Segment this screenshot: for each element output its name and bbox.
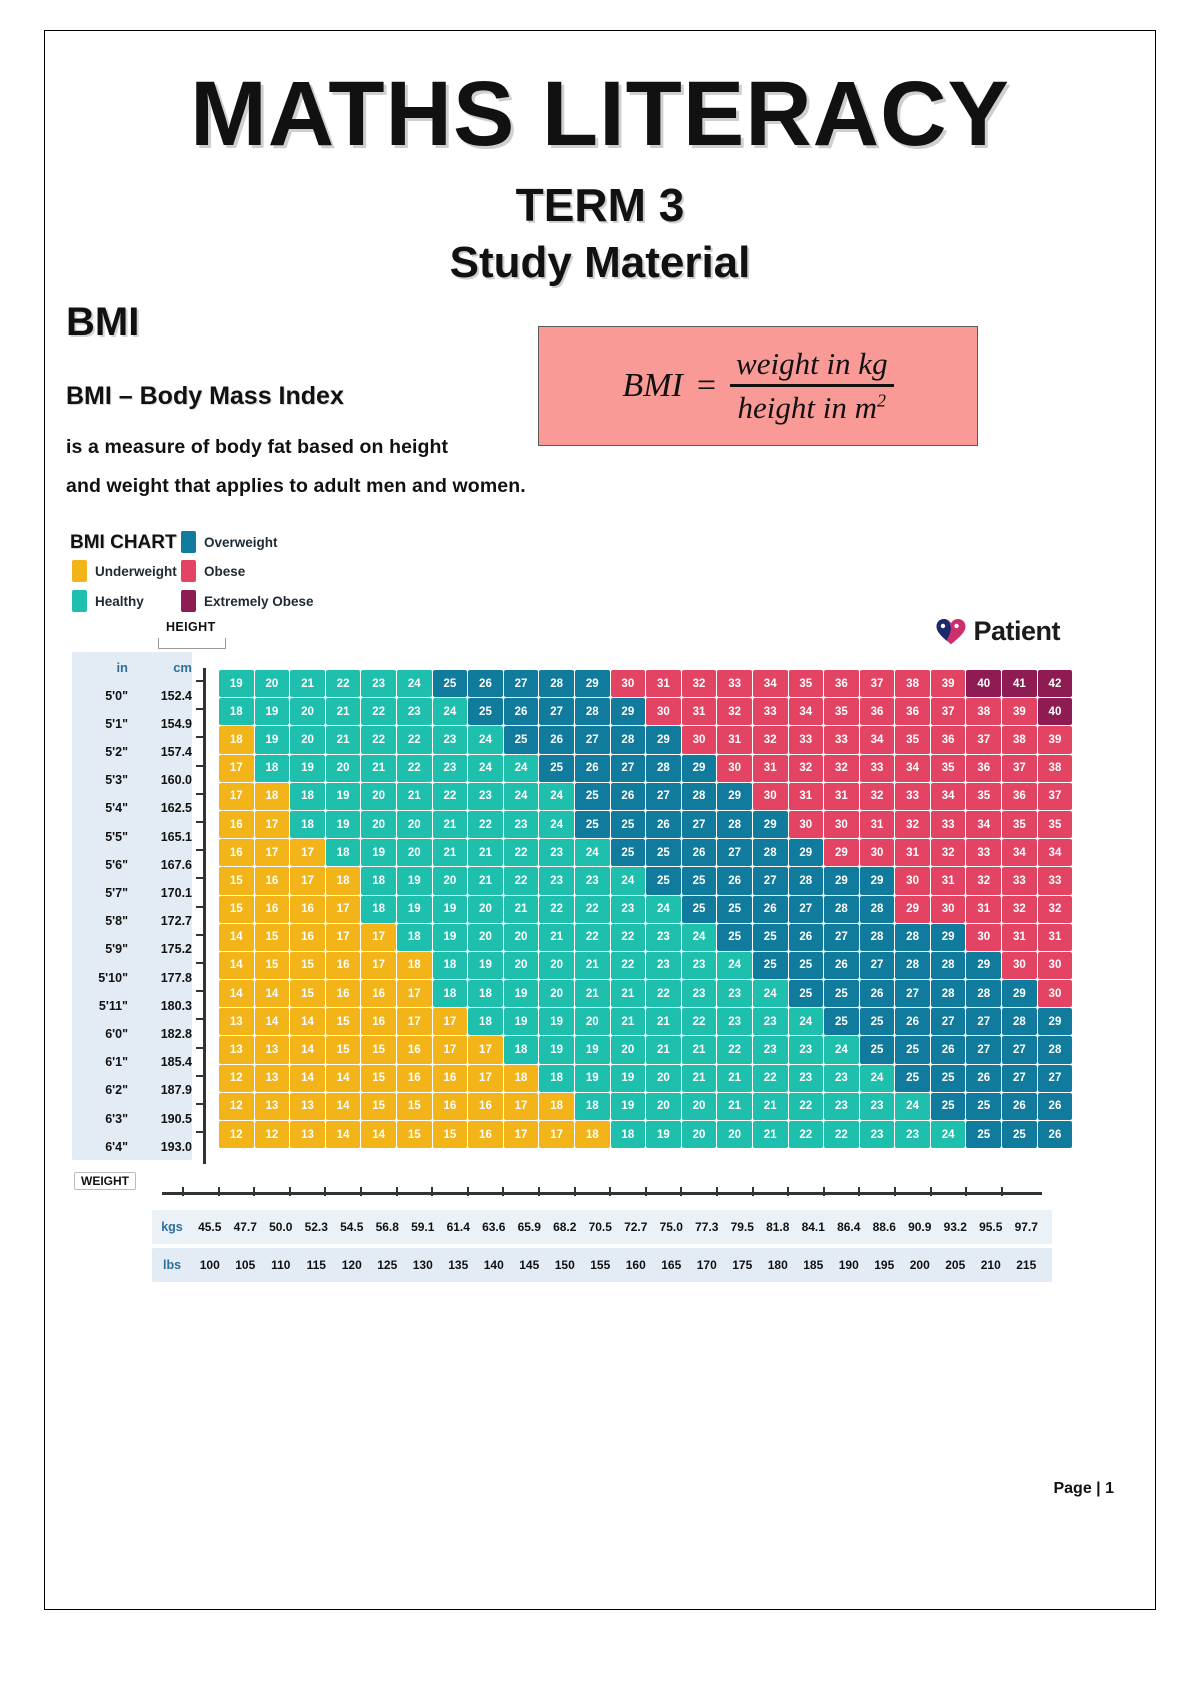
bmi-cell: 28 (753, 839, 788, 866)
height-value-in: 5'10" (72, 971, 128, 985)
bmi-cell: 28 (931, 952, 966, 979)
bmi-cell: 25 (646, 839, 681, 866)
bmi-cell: 23 (646, 952, 681, 979)
height-value-in: 6'1" (72, 1055, 128, 1069)
bmi-cell: 23 (895, 1121, 930, 1148)
bmi-cell: 26 (1038, 1121, 1073, 1148)
bmi-value-grid: 1920212223242526272829303132333435363738… (219, 670, 1073, 1149)
bmi-cell: 29 (646, 726, 681, 753)
bmi-cell: 24 (397, 670, 432, 697)
bmi-cell: 15 (255, 924, 290, 951)
legend-label-obese: Obese (204, 564, 245, 579)
height-row: 6'2"187.9 (72, 1077, 192, 1104)
bmi-cell: 23 (575, 867, 610, 894)
bmi-cell: 20 (539, 952, 574, 979)
bmi-grid-row: 1617171819202121222324252526272829293031… (219, 839, 1073, 867)
bmi-cell: 25 (504, 726, 539, 753)
height-value-cm: 177.8 (128, 971, 192, 985)
subheading-body-mass-index: BMI – Body Mass Index (66, 382, 344, 411)
bmi-cell: 24 (504, 783, 539, 810)
bmi-cell: 26 (895, 1008, 930, 1035)
bmi-cell: 26 (611, 783, 646, 810)
weight-axis-line (162, 1192, 1042, 1195)
bmi-cell: 14 (219, 980, 254, 1007)
bmi-cell: 17 (539, 1121, 574, 1148)
patient-brand-logo: Patient (936, 616, 1060, 647)
bmi-cell: 30 (611, 670, 646, 697)
bmi-cell: 24 (753, 980, 788, 1007)
height-value-in: 5'4" (72, 801, 128, 815)
bmi-cell: 34 (789, 698, 824, 725)
bmi-cell: 34 (753, 670, 788, 697)
bmi-cell: 35 (966, 783, 1001, 810)
bmi-cell: 24 (611, 867, 646, 894)
height-tick (196, 1131, 205, 1133)
height-header-cm: cm (128, 660, 192, 675)
bmi-cell: 25 (1002, 1121, 1037, 1148)
height-value-in: 5'0" (72, 689, 128, 703)
weight-value-kg: 79.5 (725, 1220, 761, 1234)
bmi-cell: 37 (860, 670, 895, 697)
height-value-in: 5'8" (72, 914, 128, 928)
bmi-cell: 16 (326, 952, 361, 979)
bmi-cell: 17 (361, 924, 396, 951)
bmi-cell: 17 (361, 952, 396, 979)
weight-value-kg: 47.7 (228, 1220, 264, 1234)
height-value-in: 5'1" (72, 717, 128, 731)
paragraph-line-2: and weight that applies to adult men and… (66, 475, 526, 498)
bmi-cell: 26 (575, 755, 610, 782)
bmi-cell: 26 (1002, 1093, 1037, 1120)
bmi-cell: 24 (433, 698, 468, 725)
bmi-cell: 28 (1002, 1008, 1037, 1035)
height-value-cm: 165.1 (128, 830, 192, 844)
bmi-cell: 25 (539, 755, 574, 782)
weight-badge-lbs: lbs (152, 1258, 192, 1272)
bmi-cell: 13 (219, 1008, 254, 1035)
bmi-cell: 30 (824, 811, 859, 838)
bmi-cell: 28 (789, 867, 824, 894)
bmi-cell: 22 (361, 726, 396, 753)
bmi-cell: 21 (326, 726, 361, 753)
bmi-grid-row: 1516161718191920212222232425252627282829… (219, 896, 1073, 924)
bmi-cell: 25 (575, 783, 610, 810)
bmi-cell: 27 (682, 811, 717, 838)
bmi-cell: 17 (219, 755, 254, 782)
bmi-cell: 36 (931, 726, 966, 753)
legend-label-extremely-obese: Extremely Obese (204, 594, 314, 609)
bmi-cell: 28 (895, 924, 930, 951)
bmi-cell: 25 (824, 1008, 859, 1035)
bmi-cell: 33 (966, 839, 1001, 866)
bmi-grid-row: 1920212223242526272829303132333435363738… (219, 670, 1073, 698)
bmi-cell: 20 (646, 1093, 681, 1120)
bmi-cell: 21 (539, 924, 574, 951)
bmi-cell: 24 (682, 924, 717, 951)
height-tick (196, 680, 205, 682)
bmi-cell: 18 (433, 980, 468, 1007)
bmi-cell: 30 (1002, 952, 1037, 979)
height-value-cm: 170.1 (128, 886, 192, 900)
bmi-cell: 30 (789, 811, 824, 838)
bmi-cell: 17 (433, 1008, 468, 1035)
bmi-cell: 16 (255, 867, 290, 894)
bmi-cell: 22 (824, 1121, 859, 1148)
bmi-cell: 27 (895, 980, 930, 1007)
bmi-cell: 15 (397, 1093, 432, 1120)
bmi-cell: 29 (966, 952, 1001, 979)
bmi-cell: 27 (717, 839, 752, 866)
bmi-cell: 19 (646, 1121, 681, 1148)
bmi-cell: 16 (433, 1093, 468, 1120)
bmi-cell: 28 (1038, 1036, 1073, 1063)
bmi-cell: 24 (895, 1093, 930, 1120)
bmi-cell: 18 (290, 783, 325, 810)
legend-label-healthy: Healthy (95, 594, 144, 609)
bmi-cell: 29 (575, 670, 610, 697)
bmi-cell: 24 (468, 755, 503, 782)
weight-value-kg: 93.2 (938, 1220, 974, 1234)
weight-value-kg: 52.3 (299, 1220, 335, 1234)
bmi-cell: 14 (255, 1008, 290, 1035)
bmi-cell: 27 (860, 952, 895, 979)
bmi-cell: 24 (824, 1036, 859, 1063)
bmi-cell: 21 (717, 1065, 752, 1092)
height-value-cm: 182.8 (128, 1027, 192, 1041)
bmi-cell: 28 (682, 783, 717, 810)
bmi-cell: 30 (931, 896, 966, 923)
bmi-cell: 18 (433, 952, 468, 979)
bmi-cell: 31 (895, 839, 930, 866)
height-tick (196, 736, 205, 738)
bmi-cell: 27 (789, 896, 824, 923)
bmi-cell: 19 (539, 1008, 574, 1035)
weight-axis-label: WEIGHT (74, 1172, 136, 1190)
weight-values-kgs: 45.547.750.052.354.556.859.161.463.665.9… (192, 1220, 1044, 1234)
height-row: 5'8"172.7 (72, 908, 192, 935)
bmi-cell: 19 (433, 924, 468, 951)
bmi-cell: 22 (539, 896, 574, 923)
bmi-cell: 20 (575, 1008, 610, 1035)
bmi-cell: 17 (504, 1093, 539, 1120)
bmi-cell: 41 (1002, 670, 1037, 697)
bmi-cell: 15 (433, 1121, 468, 1148)
bmi-cell: 23 (646, 924, 681, 951)
bmi-cell: 31 (966, 896, 1001, 923)
weight-value-lb: 145 (512, 1258, 548, 1272)
weight-value-lb: 150 (547, 1258, 583, 1272)
bmi-cell: 27 (539, 698, 574, 725)
bmi-cell: 16 (255, 896, 290, 923)
bmi-cell: 25 (717, 924, 752, 951)
bmi-cell: 19 (397, 896, 432, 923)
height-row: 5'11"180.3 (72, 992, 192, 1019)
bmi-cell: 18 (468, 1008, 503, 1035)
bmi-cell: 21 (753, 1093, 788, 1120)
bmi-cell: 30 (1038, 952, 1073, 979)
bmi-cell: 17 (290, 839, 325, 866)
weight-value-lb: 195 (867, 1258, 903, 1272)
bmi-cell: 20 (717, 1121, 752, 1148)
bmi-cell: 21 (468, 839, 503, 866)
bmi-cell: 39 (1038, 726, 1073, 753)
bmi-cell: 29 (753, 811, 788, 838)
height-column: in cm 5'0"152.45'1"154.95'2"157.45'3"160… (72, 652, 192, 1160)
bmi-cell: 23 (361, 670, 396, 697)
bmi-cell: 25 (895, 1036, 930, 1063)
bmi-cell: 19 (611, 1065, 646, 1092)
bmi-cell: 36 (860, 698, 895, 725)
height-value-cm: 172.7 (128, 914, 192, 928)
bmi-cell: 32 (717, 698, 752, 725)
bmi-cell: 25 (966, 1121, 1001, 1148)
weight-row-lbs: lbs 100105110115120125130135140145150155… (152, 1248, 1052, 1282)
bmi-cell: 22 (468, 811, 503, 838)
weight-row-kgs: kgs 45.547.750.052.354.556.859.161.463.6… (152, 1210, 1052, 1244)
weight-value-lb: 215 (1009, 1258, 1045, 1272)
bmi-cell: 26 (717, 867, 752, 894)
weight-value-kg: 50.0 (263, 1220, 299, 1234)
bmi-cell: 29 (1002, 980, 1037, 1007)
heart-icon (936, 618, 966, 645)
bmi-cell: 17 (326, 924, 361, 951)
height-tick (196, 962, 205, 964)
bmi-cell: 29 (895, 896, 930, 923)
bmi-cell: 27 (966, 1036, 1001, 1063)
bmi-cell: 31 (824, 783, 859, 810)
bmi-cell: 29 (824, 839, 859, 866)
height-axis-label: HEIGHT (166, 620, 216, 634)
bmi-cell: 25 (931, 1065, 966, 1092)
height-value-cm: 157.4 (128, 745, 192, 759)
bmi-cell: 21 (361, 755, 396, 782)
height-value-in: 5'5" (72, 830, 128, 844)
bmi-cell: 25 (789, 952, 824, 979)
bmi-cell: 34 (895, 755, 930, 782)
patient-brand-name: Patient (973, 616, 1060, 647)
bmi-cell: 23 (539, 839, 574, 866)
weight-tick (823, 1187, 825, 1196)
bmi-cell: 35 (1038, 811, 1073, 838)
bmi-cell: 12 (219, 1065, 254, 1092)
weight-value-lb: 115 (299, 1258, 335, 1272)
height-value-in: 5'7" (72, 886, 128, 900)
weight-value-kg: 75.0 (654, 1220, 690, 1234)
height-tick (196, 934, 205, 936)
weight-value-lb: 210 (973, 1258, 1009, 1272)
bmi-cell: 16 (326, 980, 361, 1007)
weight-value-kg: 61.4 (441, 1220, 477, 1234)
bmi-cell: 17 (255, 839, 290, 866)
bmi-cell: 32 (824, 755, 859, 782)
bmi-cell: 18 (575, 1093, 610, 1120)
bmi-cell: 42 (1038, 670, 1073, 697)
bmi-cell: 27 (611, 755, 646, 782)
bmi-cell: 21 (433, 839, 468, 866)
bmi-grid-row: 1314141516171718191920212122232324252526… (219, 1008, 1073, 1036)
bmi-cell: 15 (326, 1036, 361, 1063)
weight-value-lb: 105 (228, 1258, 264, 1272)
bmi-cell: 20 (468, 924, 503, 951)
bmi-cell: 20 (290, 726, 325, 753)
height-value-cm: 160.0 (128, 773, 192, 787)
legend-swatch-underweight (72, 560, 87, 582)
weight-tick (538, 1187, 540, 1196)
weight-value-kg: 81.8 (760, 1220, 796, 1234)
bmi-cell: 24 (504, 755, 539, 782)
height-tick (196, 877, 205, 879)
bmi-cell: 31 (860, 811, 895, 838)
bmi-cell: 19 (575, 1036, 610, 1063)
bmi-grid-row: 1213141415161617181819192021212223232425… (219, 1065, 1073, 1093)
bmi-cell: 29 (860, 867, 895, 894)
height-row: 5'9"175.2 (72, 936, 192, 963)
bmi-cell: 32 (966, 867, 1001, 894)
weight-tick (431, 1187, 433, 1196)
height-header-in: in (72, 660, 128, 675)
bmi-cell: 12 (255, 1121, 290, 1148)
bmi-cell: 25 (682, 896, 717, 923)
bmi-cell: 17 (433, 1036, 468, 1063)
bmi-cell: 20 (504, 924, 539, 951)
height-row: 5'1"154.9 (72, 710, 192, 737)
weight-tick (396, 1187, 398, 1196)
bmi-cell: 16 (219, 839, 254, 866)
bmi-cell: 19 (361, 839, 396, 866)
weight-value-lb: 130 (405, 1258, 441, 1272)
bmi-grid-row: 1213131415151616171818192020212122232324… (219, 1093, 1073, 1121)
height-value-in: 5'2" (72, 745, 128, 759)
bmi-cell: 22 (611, 924, 646, 951)
bmi-cell: 25 (753, 952, 788, 979)
bmi-cell: 15 (219, 867, 254, 894)
bmi-cell: 32 (895, 811, 930, 838)
bmi-cell: 15 (326, 1008, 361, 1035)
bmi-cell: 15 (290, 980, 325, 1007)
bmi-cell: 24 (931, 1121, 966, 1148)
bmi-cell: 25 (789, 980, 824, 1007)
weight-value-lb: 205 (938, 1258, 974, 1272)
height-tick (196, 990, 205, 992)
legend-label-overweight: Overweight (204, 535, 278, 550)
legend-swatch-healthy (72, 590, 87, 612)
bmi-cell: 34 (966, 811, 1001, 838)
weight-tick (680, 1187, 682, 1196)
height-value-in: 5'11" (72, 999, 128, 1013)
bmi-cell: 35 (789, 670, 824, 697)
weight-values-lbs: 1001051101151201251301351401451501551601… (192, 1258, 1044, 1272)
height-value-cm: 190.5 (128, 1112, 192, 1126)
weight-tick (218, 1187, 220, 1196)
bmi-cell: 19 (539, 1036, 574, 1063)
bmi-cell: 21 (611, 980, 646, 1007)
bmi-cell: 24 (789, 1008, 824, 1035)
page-footer: Page | 1 (1053, 1480, 1114, 1498)
height-value-cm: 193.0 (128, 1140, 192, 1154)
bmi-cell: 29 (1038, 1008, 1073, 1035)
bmi-cell: 22 (361, 698, 396, 725)
bmi-cell: 20 (682, 1093, 717, 1120)
formula-fraction: weight in kg height in m2 (730, 346, 894, 426)
bmi-cell: 14 (219, 924, 254, 951)
bmi-cell: 32 (860, 783, 895, 810)
bmi-cell: 15 (255, 952, 290, 979)
bmi-cell: 33 (789, 726, 824, 753)
bmi-cell: 18 (504, 1036, 539, 1063)
bmi-cell: 37 (931, 698, 966, 725)
bmi-cell: 28 (717, 811, 752, 838)
bmi-cell: 33 (895, 783, 930, 810)
bmi-cell: 24 (646, 896, 681, 923)
bmi-cell: 38 (1038, 755, 1073, 782)
height-value-cm: 175.2 (128, 942, 192, 956)
bmi-cell: 20 (433, 867, 468, 894)
bmi-cell: 19 (611, 1093, 646, 1120)
bmi-cell: 21 (397, 783, 432, 810)
bmi-cell: 25 (611, 811, 646, 838)
bmi-cell: 21 (433, 811, 468, 838)
height-value-cm: 187.9 (128, 1083, 192, 1097)
bmi-cell: 22 (789, 1121, 824, 1148)
bmi-cell: 18 (219, 698, 254, 725)
weight-value-lb: 120 (334, 1258, 370, 1272)
bmi-cell: 26 (1038, 1093, 1073, 1120)
bmi-cell: 17 (219, 783, 254, 810)
bmi-cell: 29 (931, 924, 966, 951)
bmi-cell: 26 (539, 726, 574, 753)
bmi-cell: 22 (397, 755, 432, 782)
bmi-cell: 36 (824, 670, 859, 697)
bmi-grid-row: 1819202122222324252627282930313233333435… (219, 726, 1073, 754)
height-value-in: 5'3" (72, 773, 128, 787)
bmi-cell: 35 (824, 698, 859, 725)
bmi-cell: 14 (255, 980, 290, 1007)
bmi-cell: 22 (611, 952, 646, 979)
bmi-cell: 18 (255, 755, 290, 782)
bmi-cell: 28 (895, 952, 930, 979)
bmi-cell: 33 (1002, 867, 1037, 894)
bmi-cell: 35 (895, 726, 930, 753)
weight-value-lb: 200 (902, 1258, 938, 1272)
height-value-cm: 162.5 (128, 801, 192, 815)
weight-value-kg: 54.5 (334, 1220, 370, 1234)
bmi-cell: 24 (717, 952, 752, 979)
bmi-cell: 24 (539, 783, 574, 810)
formula-lhs: BMI (622, 367, 682, 405)
bmi-cell: 25 (860, 1008, 895, 1035)
bmi-cell: 15 (397, 1121, 432, 1148)
bmi-cell: 25 (860, 1036, 895, 1063)
bmi-cell: 12 (219, 1093, 254, 1120)
weight-value-kg: 68.2 (547, 1220, 583, 1234)
bmi-cell: 14 (326, 1121, 361, 1148)
bmi-cell: 34 (1002, 839, 1037, 866)
bmi-cell: 14 (361, 1121, 396, 1148)
height-row: 5'2"157.4 (72, 738, 192, 765)
bmi-cell: 14 (290, 1036, 325, 1063)
bmi-cell: 18 (397, 924, 432, 951)
weight-value-lb: 165 (654, 1258, 690, 1272)
bmi-cell: 19 (397, 867, 432, 894)
weight-value-kg: 72.7 (618, 1220, 654, 1234)
bmi-cell: 33 (717, 670, 752, 697)
bmi-cell: 37 (1002, 755, 1037, 782)
bmi-cell: 21 (290, 670, 325, 697)
weight-value-kg: 90.9 (902, 1220, 938, 1234)
bmi-cell: 31 (753, 755, 788, 782)
bmi-cell: 23 (397, 698, 432, 725)
bmi-cell: 28 (646, 755, 681, 782)
